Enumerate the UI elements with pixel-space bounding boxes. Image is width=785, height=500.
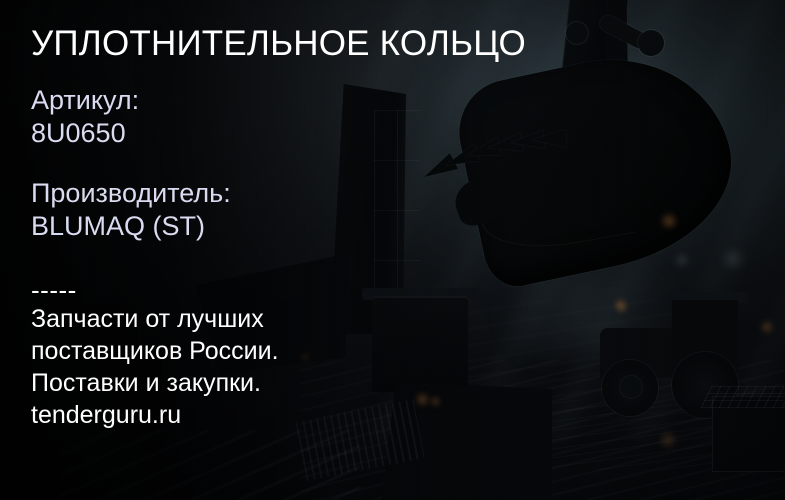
product-title: УПЛОТНИТЕЛЬНОЕ КОЛЬЦО bbox=[31, 24, 526, 64]
tagline-line-1: Запчасти от лучших bbox=[31, 303, 531, 335]
tagline-line-2: поставщиков России. bbox=[31, 335, 531, 367]
sku-block: Артикул: 8U0650 bbox=[31, 84, 139, 150]
manufacturer-block: Производитель: BLUMAQ (ST) bbox=[31, 177, 231, 243]
manufacturer-value: BLUMAQ (ST) bbox=[31, 210, 231, 243]
tagline-block: ----- Запчасти от лучших поставщиков Рос… bbox=[31, 277, 531, 431]
banner-content: УПЛОТНИТЕЛЬНОЕ КОЛЬЦО Артикул: 8U0650 Пр… bbox=[31, 0, 551, 500]
tagline-site-url: tenderguru.ru bbox=[31, 399, 531, 431]
manufacturer-label: Производитель: bbox=[31, 177, 231, 210]
sku-label: Артикул: bbox=[31, 84, 139, 117]
product-banner: УПЛОТНИТЕЛЬНОЕ КОЛЬЦО Артикул: 8U0650 Пр… bbox=[0, 0, 785, 500]
tagline-line-3: Поставки и закупки. bbox=[31, 367, 531, 399]
sku-value: 8U0650 bbox=[31, 117, 139, 150]
tagline-divider: ----- bbox=[31, 277, 531, 303]
